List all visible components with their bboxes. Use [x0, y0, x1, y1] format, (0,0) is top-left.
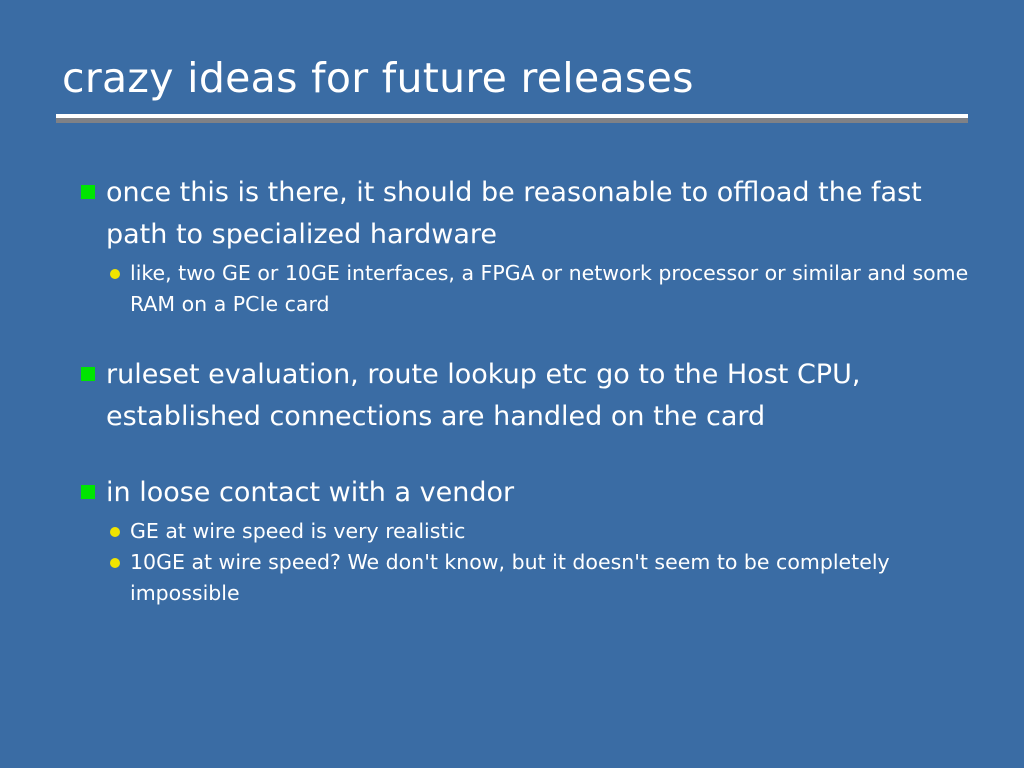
bullet-section: once this is there, it should be reasona…	[78, 172, 978, 320]
bullet-level1: in loose contact with a vendor	[78, 472, 951, 514]
bullet-level2: 10GE at wire speed? We don't know, but i…	[78, 547, 970, 609]
green-square-bullet-icon	[81, 367, 95, 381]
bullet-section: ruleset evaluation, route lookup etc go …	[78, 354, 978, 438]
bullet-level1: ruleset evaluation, route lookup etc go …	[78, 354, 951, 438]
bullet-level2-text: 10GE at wire speed? We don't know, but i…	[130, 550, 890, 605]
bullet-level2-text: GE at wire speed is very realistic	[130, 519, 465, 543]
bullet-level2: GE at wire speed is very realistic	[78, 516, 970, 547]
green-square-bullet-icon	[81, 185, 95, 199]
bullet-level2-text: like, two GE or 10GE interfaces, a FPGA …	[130, 261, 968, 316]
yellow-circle-bullet-icon	[110, 527, 120, 537]
yellow-circle-bullet-icon	[110, 558, 120, 568]
sub-bullet-list: GE at wire speed is very realistic 10GE …	[78, 516, 978, 609]
page-title: crazy ideas for future releases	[56, 52, 968, 104]
sub-bullet-list: like, two GE or 10GE interfaces, a FPGA …	[78, 258, 978, 320]
yellow-circle-bullet-icon	[110, 269, 120, 279]
bullet-level1-text: ruleset evaluation, route lookup etc go …	[106, 359, 860, 432]
bullet-level1-text: in loose contact with a vendor	[106, 477, 514, 508]
title-block: crazy ideas for future releases	[56, 52, 968, 104]
title-divider	[56, 114, 968, 123]
slide-body: once this is there, it should be reasona…	[78, 172, 978, 609]
bullet-section: in loose contact with a vendor GE at wir…	[78, 472, 978, 609]
presentation-slide: crazy ideas for future releases once thi…	[0, 0, 1024, 768]
title-divider-shadow-line	[56, 118, 968, 123]
green-square-bullet-icon	[81, 485, 95, 499]
bullet-level1-text: once this is there, it should be reasona…	[106, 177, 922, 250]
bullet-level1: once this is there, it should be reasona…	[78, 172, 951, 256]
bullet-level2: like, two GE or 10GE interfaces, a FPGA …	[78, 258, 970, 320]
